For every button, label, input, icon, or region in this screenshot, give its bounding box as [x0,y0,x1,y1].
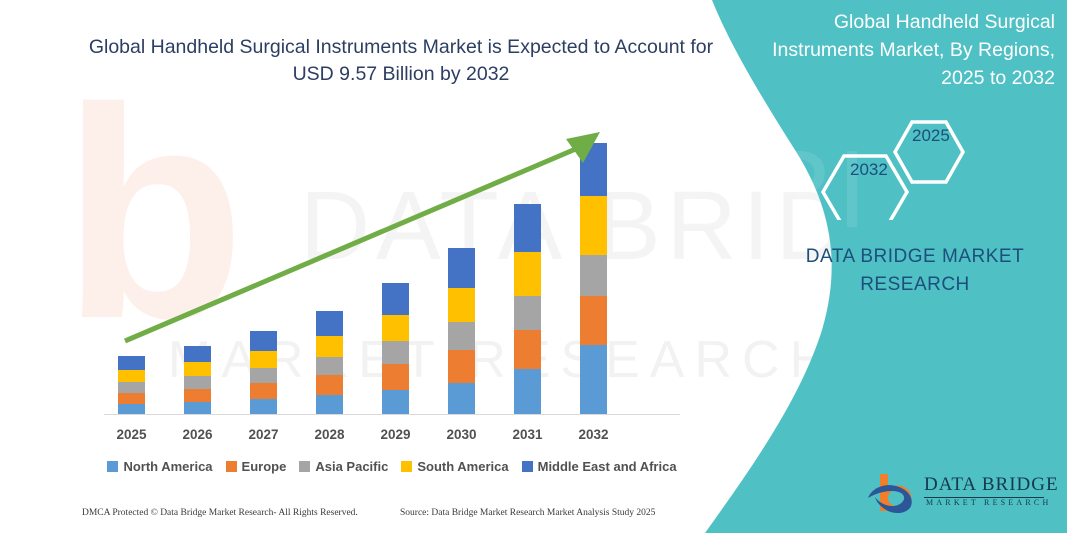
bar-segment-2029-north-america [382,390,409,414]
bar-segment-2028-asia-pacific [316,357,343,375]
legend-swatch-icon [226,461,237,472]
bar-segment-2032-asia-pacific [580,255,607,296]
bar-segment-2032-middle-east-and-africa [580,143,607,196]
legend-label: Asia Pacific [315,459,388,474]
bar-2028 [316,311,343,414]
bar-segment-2025-north-america [118,404,145,414]
panel-brand-line-1: DATA BRIDGE MARKET [785,243,1045,271]
panel-title: Global Handheld Surgical Instruments Mar… [765,8,1055,92]
legend-item-asia-pacific[interactable]: Asia Pacific [299,459,388,474]
bar-segment-2025-asia-pacific [118,382,145,393]
legend-swatch-icon [522,461,533,472]
bar-segment-2029-europe [382,364,409,390]
bar-segment-2025-europe [118,393,145,404]
legend-swatch-icon [401,461,412,472]
bar-segment-2030-middle-east-and-africa [448,248,475,288]
bar-segment-2029-south-america [382,315,409,341]
bar-segment-2025-south-america [118,370,145,382]
legend-item-middle-east-and-africa[interactable]: Middle East and Africa [522,459,677,474]
legend-item-south-america[interactable]: South America [401,459,508,474]
legend-swatch-icon [107,461,118,472]
bar-segment-2029-asia-pacific [382,341,409,364]
databridge-logo-mark-icon [866,470,922,516]
panel-brand-line-2: RESEARCH [785,271,1045,299]
x-axis-label-2028: 2028 [297,427,363,442]
bar-segment-2031-asia-pacific [514,296,541,330]
bar-segment-2030-north-america [448,383,475,414]
hexagon-group: 2032 2025 [800,100,1020,220]
bar-segment-2031-north-america [514,369,541,414]
bar-segment-2025-middle-east-and-africa [118,356,145,370]
bar-segment-2027-south-america [250,351,277,368]
bar-2025 [118,356,145,414]
databridge-logo: DATA BRIDGE MARKET RESEARCH [866,470,1046,520]
hexagon-label-2032: 2032 [850,160,888,180]
bar-segment-2026-middle-east-and-africa [184,346,211,362]
bar-segment-2028-north-america [316,395,343,414]
x-axis-label-2031: 2031 [495,427,561,442]
bar-segment-2026-europe [184,389,211,402]
bar-2032 [580,143,607,414]
bar-segment-2027-asia-pacific [250,368,277,383]
x-axis-label-2027: 2027 [231,427,297,442]
legend-label: Middle East and Africa [538,459,677,474]
bar-2029 [382,283,409,414]
bar-2026 [184,346,211,414]
bar-segment-2032-north-america [580,345,607,414]
footer-copyright: DMCA Protected © Data Bridge Market Rese… [82,508,358,518]
legend-swatch-icon [299,461,310,472]
chart-legend: North AmericaEuropeAsia PacificSouth Ame… [104,459,680,474]
panel-watermark-2: RE [676,300,779,369]
bar-segment-2030-europe [448,350,475,383]
bar-2027 [250,331,277,414]
legend-item-north-america[interactable]: North America [107,459,212,474]
x-axis-label-2025: 2025 [99,427,165,442]
bar-segment-2028-europe [316,375,343,395]
bar-segment-2027-north-america [250,399,277,414]
bar-segment-2029-middle-east-and-africa [382,283,409,315]
logo-subtitle: MARKET RESEARCH [926,498,1051,507]
bar-2031 [514,204,541,414]
hexagon-label-2025: 2025 [912,126,950,146]
legend-label: South America [417,459,508,474]
bar-segment-2032-europe [580,296,607,345]
legend-item-europe[interactable]: Europe [226,459,287,474]
panel-brand-text: DATA BRIDGE MARKET RESEARCH [785,243,1045,299]
bar-segment-2032-south-america [580,196,607,255]
logo-title: DATA BRIDGE [924,474,1059,496]
bar-segment-2026-asia-pacific [184,376,211,389]
bar-segment-2031-europe [514,330,541,369]
legend-label: Europe [242,459,287,474]
chart-title: Global Handheld Surgical Instruments Mar… [86,34,716,88]
legend-label: North America [123,459,212,474]
bar-segment-2031-south-america [514,252,541,296]
footer-source: Source: Data Bridge Market Research Mark… [400,508,655,518]
bar-segment-2030-south-america [448,288,475,322]
x-axis-label-2032: 2032 [561,427,627,442]
x-axis-label-2030: 2030 [429,427,495,442]
bar-segment-2026-south-america [184,362,211,376]
hexagon-outlines-icon [800,100,1020,220]
bar-segment-2031-middle-east-and-africa [514,204,541,252]
bar-segment-2028-middle-east-and-africa [316,311,343,336]
bar-segment-2027-europe [250,383,277,399]
bar-segment-2030-asia-pacific [448,322,475,350]
bar-segment-2027-middle-east-and-africa [250,331,277,351]
x-axis-label-2026: 2026 [165,427,231,442]
infographic-page: b DATA BRIDGE MARKET RESEARCH Global Han… [0,0,1067,533]
bar-segment-2028-south-america [316,336,343,357]
bar-segment-2026-north-america [184,402,211,414]
bar-2030 [448,248,475,414]
x-axis-line [104,414,680,415]
x-axis-label-2029: 2029 [363,427,429,442]
